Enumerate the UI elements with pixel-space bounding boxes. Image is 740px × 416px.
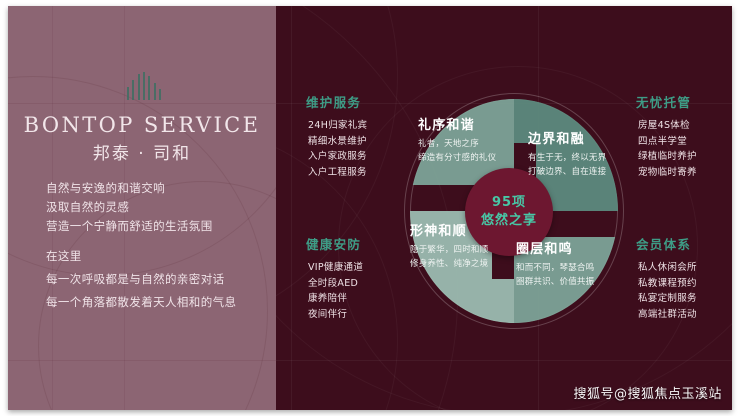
service-group-membership: 会员体系 私人休闲会所 私教课程预约 私宴定制服务 高端社群活动: [634, 234, 732, 322]
brand-copy-line: 每一次呼吸都是与自然的亲密对话: [46, 268, 261, 291]
service-item: 高端社群活动: [634, 307, 732, 323]
decorative-hline: [8, 360, 276, 361]
brand-copy-line: 营造一个宁静而舒适的生活氛围: [46, 217, 261, 236]
quadrant-line: 缔造有分寸感的礼仪: [418, 152, 496, 166]
service-item: 入户家政服务: [304, 149, 416, 165]
service-group-worry-free-trusteeship: 无忧托管 房屋4S体检 四点半学堂 绿植临时养护 宠物临时寄养: [634, 92, 732, 180]
brand-copy-line: 每一个角落都散发着天人相和的气息: [46, 291, 261, 314]
vertical-bars-ornament-icon: [127, 72, 161, 100]
service-item: 私人休闲会所: [634, 260, 732, 276]
service-group-maintenance: 维护服务 24H归家礼宾 精细水景维护 入户家政服务 入户工程服务: [304, 92, 416, 180]
service-group-title: 无忧托管: [634, 92, 732, 111]
brand-copy-line: 自然与安逸的和谐交响: [46, 179, 261, 198]
quadrant-top-right: 边界和融 有生于无，终以无界 打破边界、自在连接: [528, 128, 606, 179]
service-item: 房屋4S体检: [634, 118, 732, 134]
quadrant-line: 有生于无，终以无界: [528, 152, 606, 166]
service-group-title: 健康安防: [304, 234, 416, 253]
brand-copy-line: 在这里: [46, 245, 261, 268]
decorative-hline: [8, 103, 276, 104]
brand-title-cn: 邦泰 · 司和: [8, 139, 276, 164]
quadrant-line: 和而不同，琴瑟合鸣: [516, 262, 594, 276]
decorative-vline: [291, 6, 292, 410]
hub-count: 95项: [492, 194, 526, 212]
service-item: VIP健康通道: [304, 260, 416, 276]
quadrant-title: 圈层和鸣: [516, 238, 594, 257]
watermark: 搜狐号@搜狐焦点玉溪站: [573, 383, 722, 402]
service-wheel-diagram: 95项 悠然之享 礼序和谐 礼者，天地之序 缔造有分寸感的礼仪 边界和融 有生于…: [404, 86, 626, 336]
service-item: 精细水景维护: [304, 134, 416, 150]
brand-panel: BONTOP SERVICE 邦泰 · 司和 自然与安逸的和谐交响 汲取自然的灵…: [8, 6, 276, 410]
service-item: 入户工程服务: [304, 165, 416, 181]
brand-copy: 自然与安逸的和谐交响 汲取自然的灵感 营造一个宁静而舒适的生活氛围 在这里 每一…: [46, 179, 261, 314]
copy-spacer: [46, 236, 261, 245]
quadrant-line: 礼者，天地之序: [418, 138, 496, 152]
service-item: 私宴定制服务: [634, 291, 732, 307]
quadrant-top-left: 礼序和谐 礼者，天地之序 缔造有分寸感的礼仪: [418, 114, 496, 165]
service-item: 四点半学堂: [634, 134, 732, 150]
quadrant-title: 边界和融: [528, 128, 606, 147]
quadrant-line: 隐于繁华，四时和顺: [410, 244, 488, 258]
quadrant-line: 打破边界、自在连接: [528, 166, 606, 180]
service-item: 康养陪伴: [304, 291, 416, 307]
brand-copy-line: 汲取自然的灵感: [46, 198, 261, 217]
service-item: 夜间伴行: [304, 307, 416, 323]
service-group-health-security: 健康安防 VIP健康通道 全时段AED 康养陪伴 夜间伴行: [304, 234, 416, 322]
brand-title-en: BONTOP SERVICE: [8, 113, 276, 137]
slide-canvas: BONTOP SERVICE 邦泰 · 司和 自然与安逸的和谐交响 汲取自然的灵…: [8, 6, 732, 410]
quadrant-bottom-right: 圈层和鸣 和而不同，琴瑟合鸣 圈群共识、价值共振: [516, 238, 594, 289]
service-item: 宠物临时寄养: [634, 165, 732, 181]
service-group-title: 维护服务: [304, 92, 416, 111]
quadrant-bottom-left: 形神和顺 隐于繁华，四时和顺 修身养性、纯净之境: [410, 220, 488, 271]
service-item: 绿植临时养护: [634, 149, 732, 165]
quadrant-line: 圈群共识、价值共振: [516, 276, 594, 290]
quadrant-title: 形神和顺: [410, 220, 488, 239]
service-group-title: 会员体系: [634, 234, 732, 253]
service-item: 24H归家礼宾: [304, 118, 416, 134]
service-item: 私教课程预约: [634, 276, 732, 292]
hub-label: 悠然之享: [481, 212, 537, 230]
quadrant-title: 礼序和谐: [418, 114, 496, 133]
service-item: 全时段AED: [304, 276, 416, 292]
quadrant-line: 修身养性、纯净之境: [410, 258, 488, 272]
